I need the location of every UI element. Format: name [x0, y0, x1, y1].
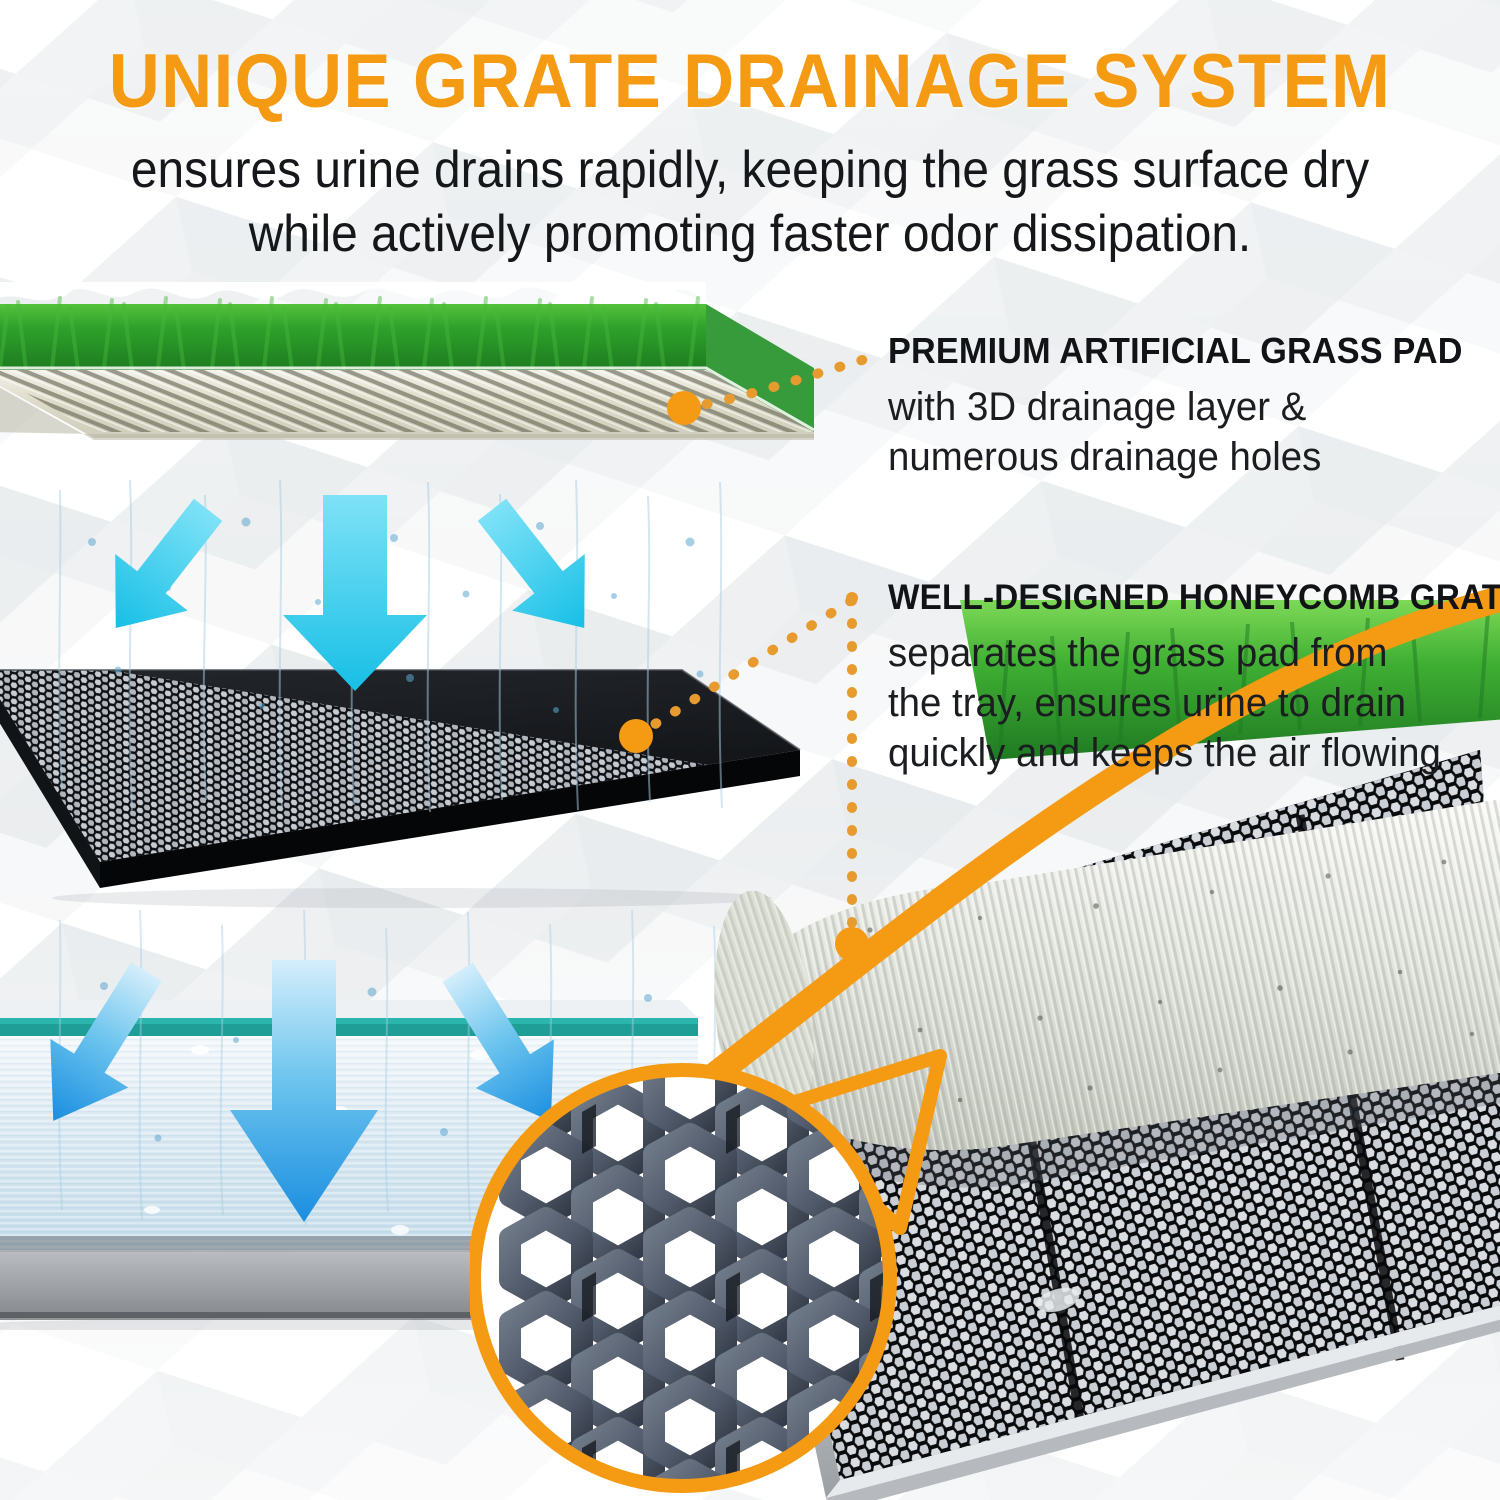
- subtitle-line-1: ensures urine drains rapidly, keeping th…: [60, 138, 1440, 202]
- callout-body: with 3D drainage layer & numerous draina…: [888, 382, 1464, 482]
- arrow-left: [79, 495, 244, 656]
- callout-body-line-1: with 3D drainage layer &: [888, 382, 1464, 432]
- callout-body-line-2: the tray, ensures urine to drain: [888, 678, 1474, 728]
- water-flow-arrows-upper: [55, 495, 655, 695]
- callout-premium-grass-pad: PREMIUM ARTIFICIAL GRASS PAD with 3D dra…: [888, 330, 1488, 482]
- callout-honeycomb-grate: WELL-DESIGNED HONEYCOMB GRATE separates …: [888, 578, 1498, 778]
- callout-heading: WELL-DESIGNED HONEYCOMB GRATE: [888, 578, 1468, 618]
- callout-body-line-2: numerous drainage holes: [888, 432, 1464, 482]
- infographic-canvas: UNIQUE GRATE DRAINAGE SYSTEM ensures uri…: [0, 0, 1500, 1500]
- grass-pad-layer: [0, 282, 816, 502]
- page-title: UNIQUE GRATE DRAINAGE SYSTEM: [53, 38, 1448, 125]
- honeycomb-magnifier: [470, 1040, 990, 1500]
- callout-body-line-3: quickly and keeps the air flowing: [888, 728, 1474, 778]
- callout-body: separates the grass pad from the tray, e…: [888, 628, 1474, 778]
- callout-body-line-1: separates the grass pad from: [888, 628, 1474, 678]
- header: UNIQUE GRATE DRAINAGE SYSTEM ensures uri…: [0, 0, 1500, 275]
- arrow-center: [283, 495, 427, 691]
- arrow-right: [456, 495, 621, 656]
- subtitle-line-2: while actively promoting faster odor dis…: [60, 202, 1440, 266]
- callout-heading: PREMIUM ARTIFICIAL GRASS PAD: [888, 330, 1458, 372]
- page-subtitle: ensures urine drains rapidly, keeping th…: [60, 138, 1440, 266]
- arrow-center: [230, 960, 378, 1222]
- arrow-left: [14, 960, 185, 1145]
